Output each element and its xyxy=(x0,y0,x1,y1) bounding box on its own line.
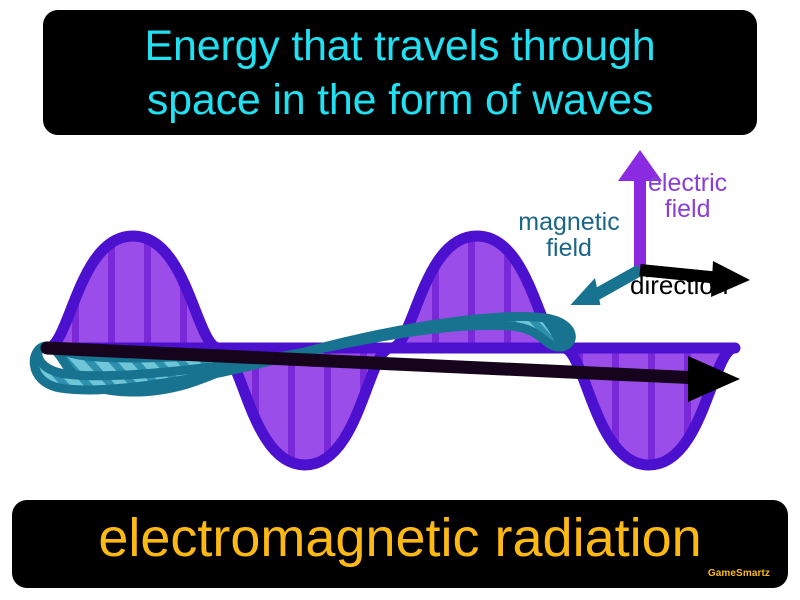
definition-line-1: Energy that travels through xyxy=(145,19,656,73)
electric-field-label-line2: field xyxy=(648,196,727,222)
direction-label: direction xyxy=(630,272,728,298)
magnetic-field-label: magnetic field xyxy=(504,209,634,261)
electric-field-label: electric field xyxy=(648,170,727,222)
definition-line-2: space in the form of waves xyxy=(147,73,653,127)
magnetic-field-label-line2: field xyxy=(504,235,634,261)
definition-banner: Energy that travels through space in the… xyxy=(43,10,757,135)
magnetic-field-label-line1: magnetic xyxy=(518,208,619,236)
term-banner: electromagnetic radiation GameSmartz xyxy=(12,500,788,588)
magnetic-field-arrow-icon xyxy=(565,270,640,305)
watermark-label: GameSmartz xyxy=(708,568,770,579)
electric-field-label-line1: electric xyxy=(648,169,727,197)
term-label: electromagnetic radiation xyxy=(12,506,788,570)
